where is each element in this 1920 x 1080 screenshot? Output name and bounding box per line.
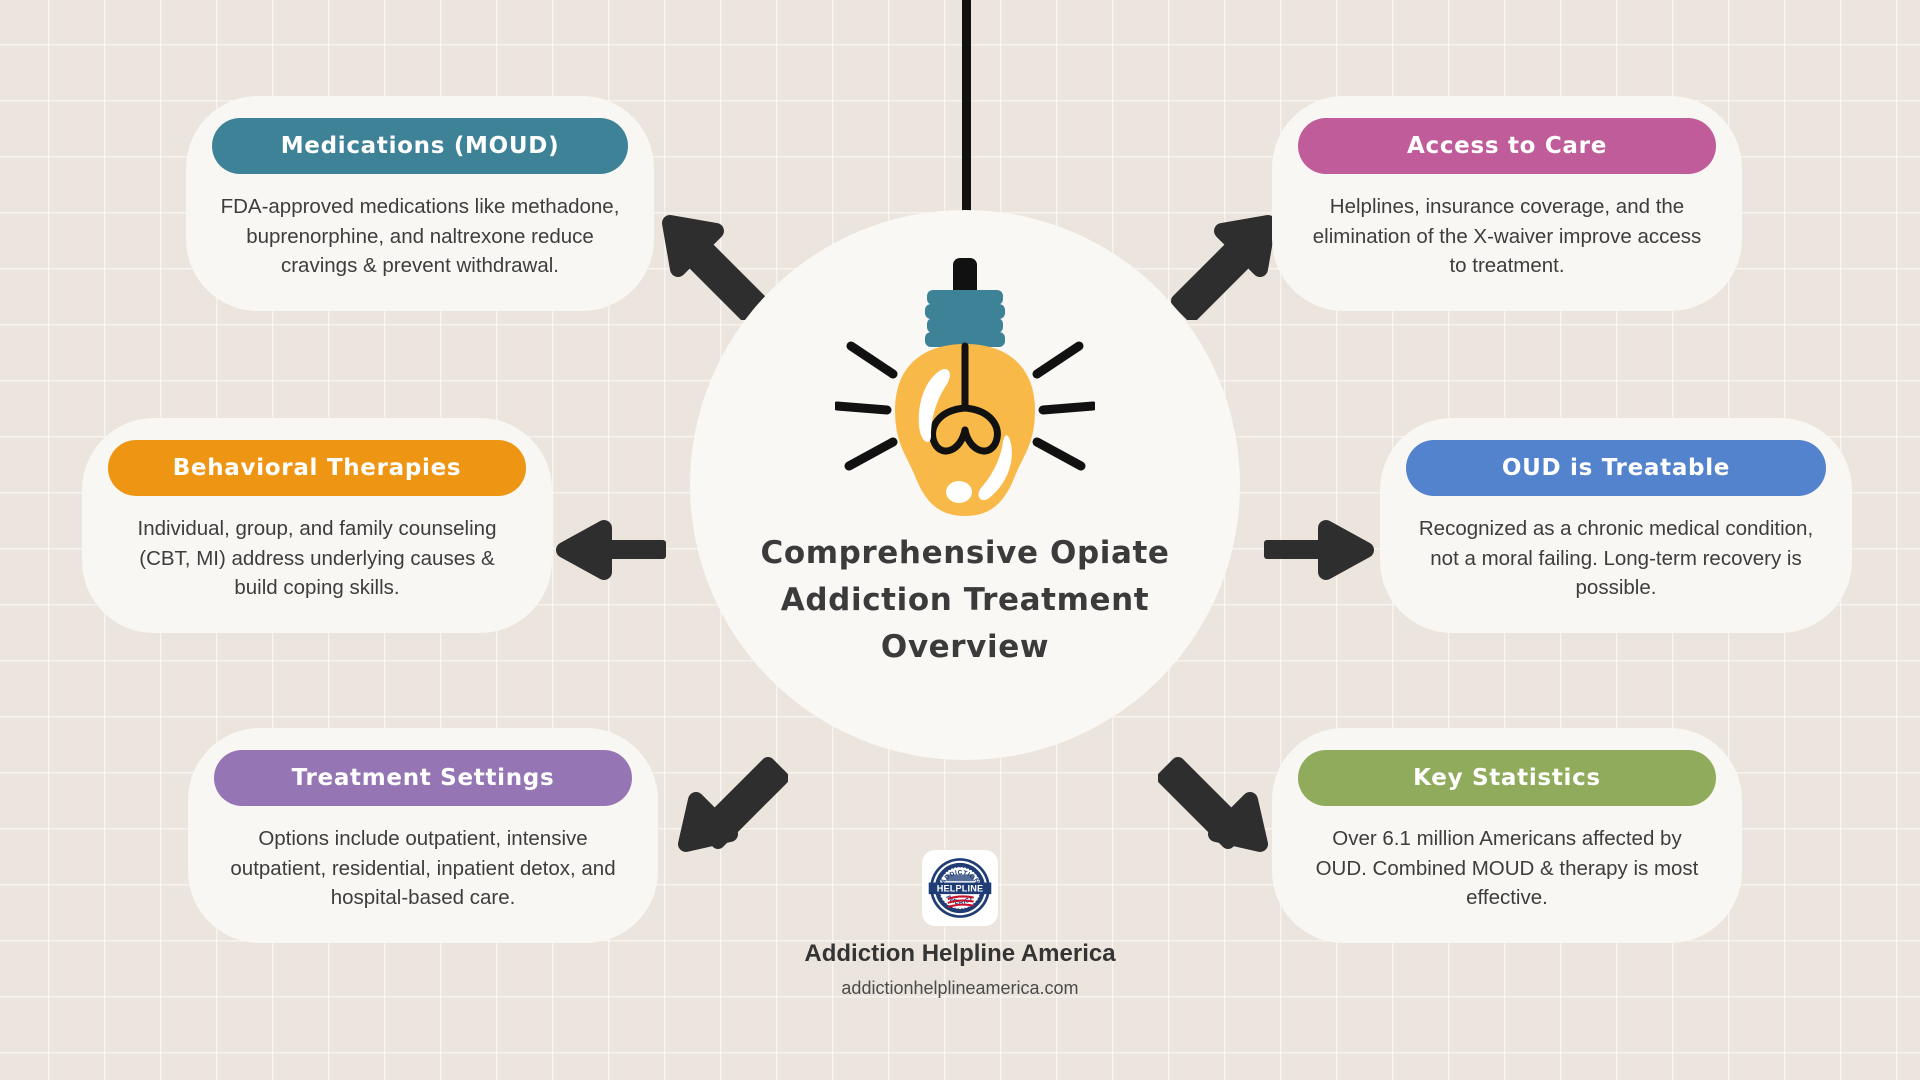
card-oud-is-treatable[interactable]: OUD is Treatable Recognized as a chronic… (1380, 418, 1852, 633)
addiction-helpline-america-seal-logo: ADDICTION AMERICA HELPLINE (922, 850, 998, 926)
page-title-line-1: Comprehensive Opiate (742, 530, 1188, 577)
card-key-statistics-title: Key Statistics (1298, 750, 1716, 806)
sparkle-rays-left (837, 346, 893, 466)
card-access-to-care[interactable]: Access to Care Helplines, insurance cove… (1272, 96, 1742, 311)
sparkle-rays-right (1037, 346, 1093, 466)
arrow-to-medications (650, 205, 770, 320)
page-title: Comprehensive Opiate Addiction Treatment… (690, 530, 1240, 671)
card-medications[interactable]: Medications (MOUD) FDA-approved medicati… (186, 96, 654, 311)
arrow-to-behavioral (548, 510, 668, 590)
card-behavioral-therapies-title: Behavioral Therapies (108, 440, 526, 496)
card-medications-body: FDA-approved medications like methadone,… (212, 192, 628, 281)
infographic-canvas: Comprehensive Opiate Addiction Treatment… (0, 0, 1920, 1080)
card-access-to-care-body: Helplines, insurance coverage, and the e… (1298, 192, 1716, 281)
card-behavioral-therapies[interactable]: Behavioral Therapies Individual, group, … (82, 418, 552, 633)
brand-name: Addiction Helpline America (804, 940, 1115, 968)
card-treatment-settings-title: Treatment Settings (214, 750, 632, 806)
page-title-line-3: Overview (742, 624, 1188, 671)
card-oud-is-treatable-body: Recognized as a chronic medical conditio… (1406, 514, 1826, 603)
footer: ADDICTION AMERICA HELPLINE (0, 850, 1920, 999)
seal-banner-text: HELPLINE (937, 883, 983, 893)
card-access-to-care-title: Access to Care (1298, 118, 1716, 174)
center-hub: Comprehensive Opiate Addiction Treatment… (690, 210, 1240, 760)
bulb-base (925, 290, 1005, 347)
card-medications-title: Medications (MOUD) (212, 118, 628, 174)
page-title-line-2: Addiction Treatment (742, 577, 1188, 624)
arrow-to-oud (1262, 510, 1382, 590)
brand-website: addictionhelplineamerica.com (841, 978, 1078, 999)
card-oud-is-treatable-title: OUD is Treatable (1406, 440, 1826, 496)
card-behavioral-therapies-body: Individual, group, and family counseling… (108, 514, 526, 603)
arrow-to-access (1168, 205, 1288, 320)
lightbulb-illustration (835, 258, 1095, 548)
